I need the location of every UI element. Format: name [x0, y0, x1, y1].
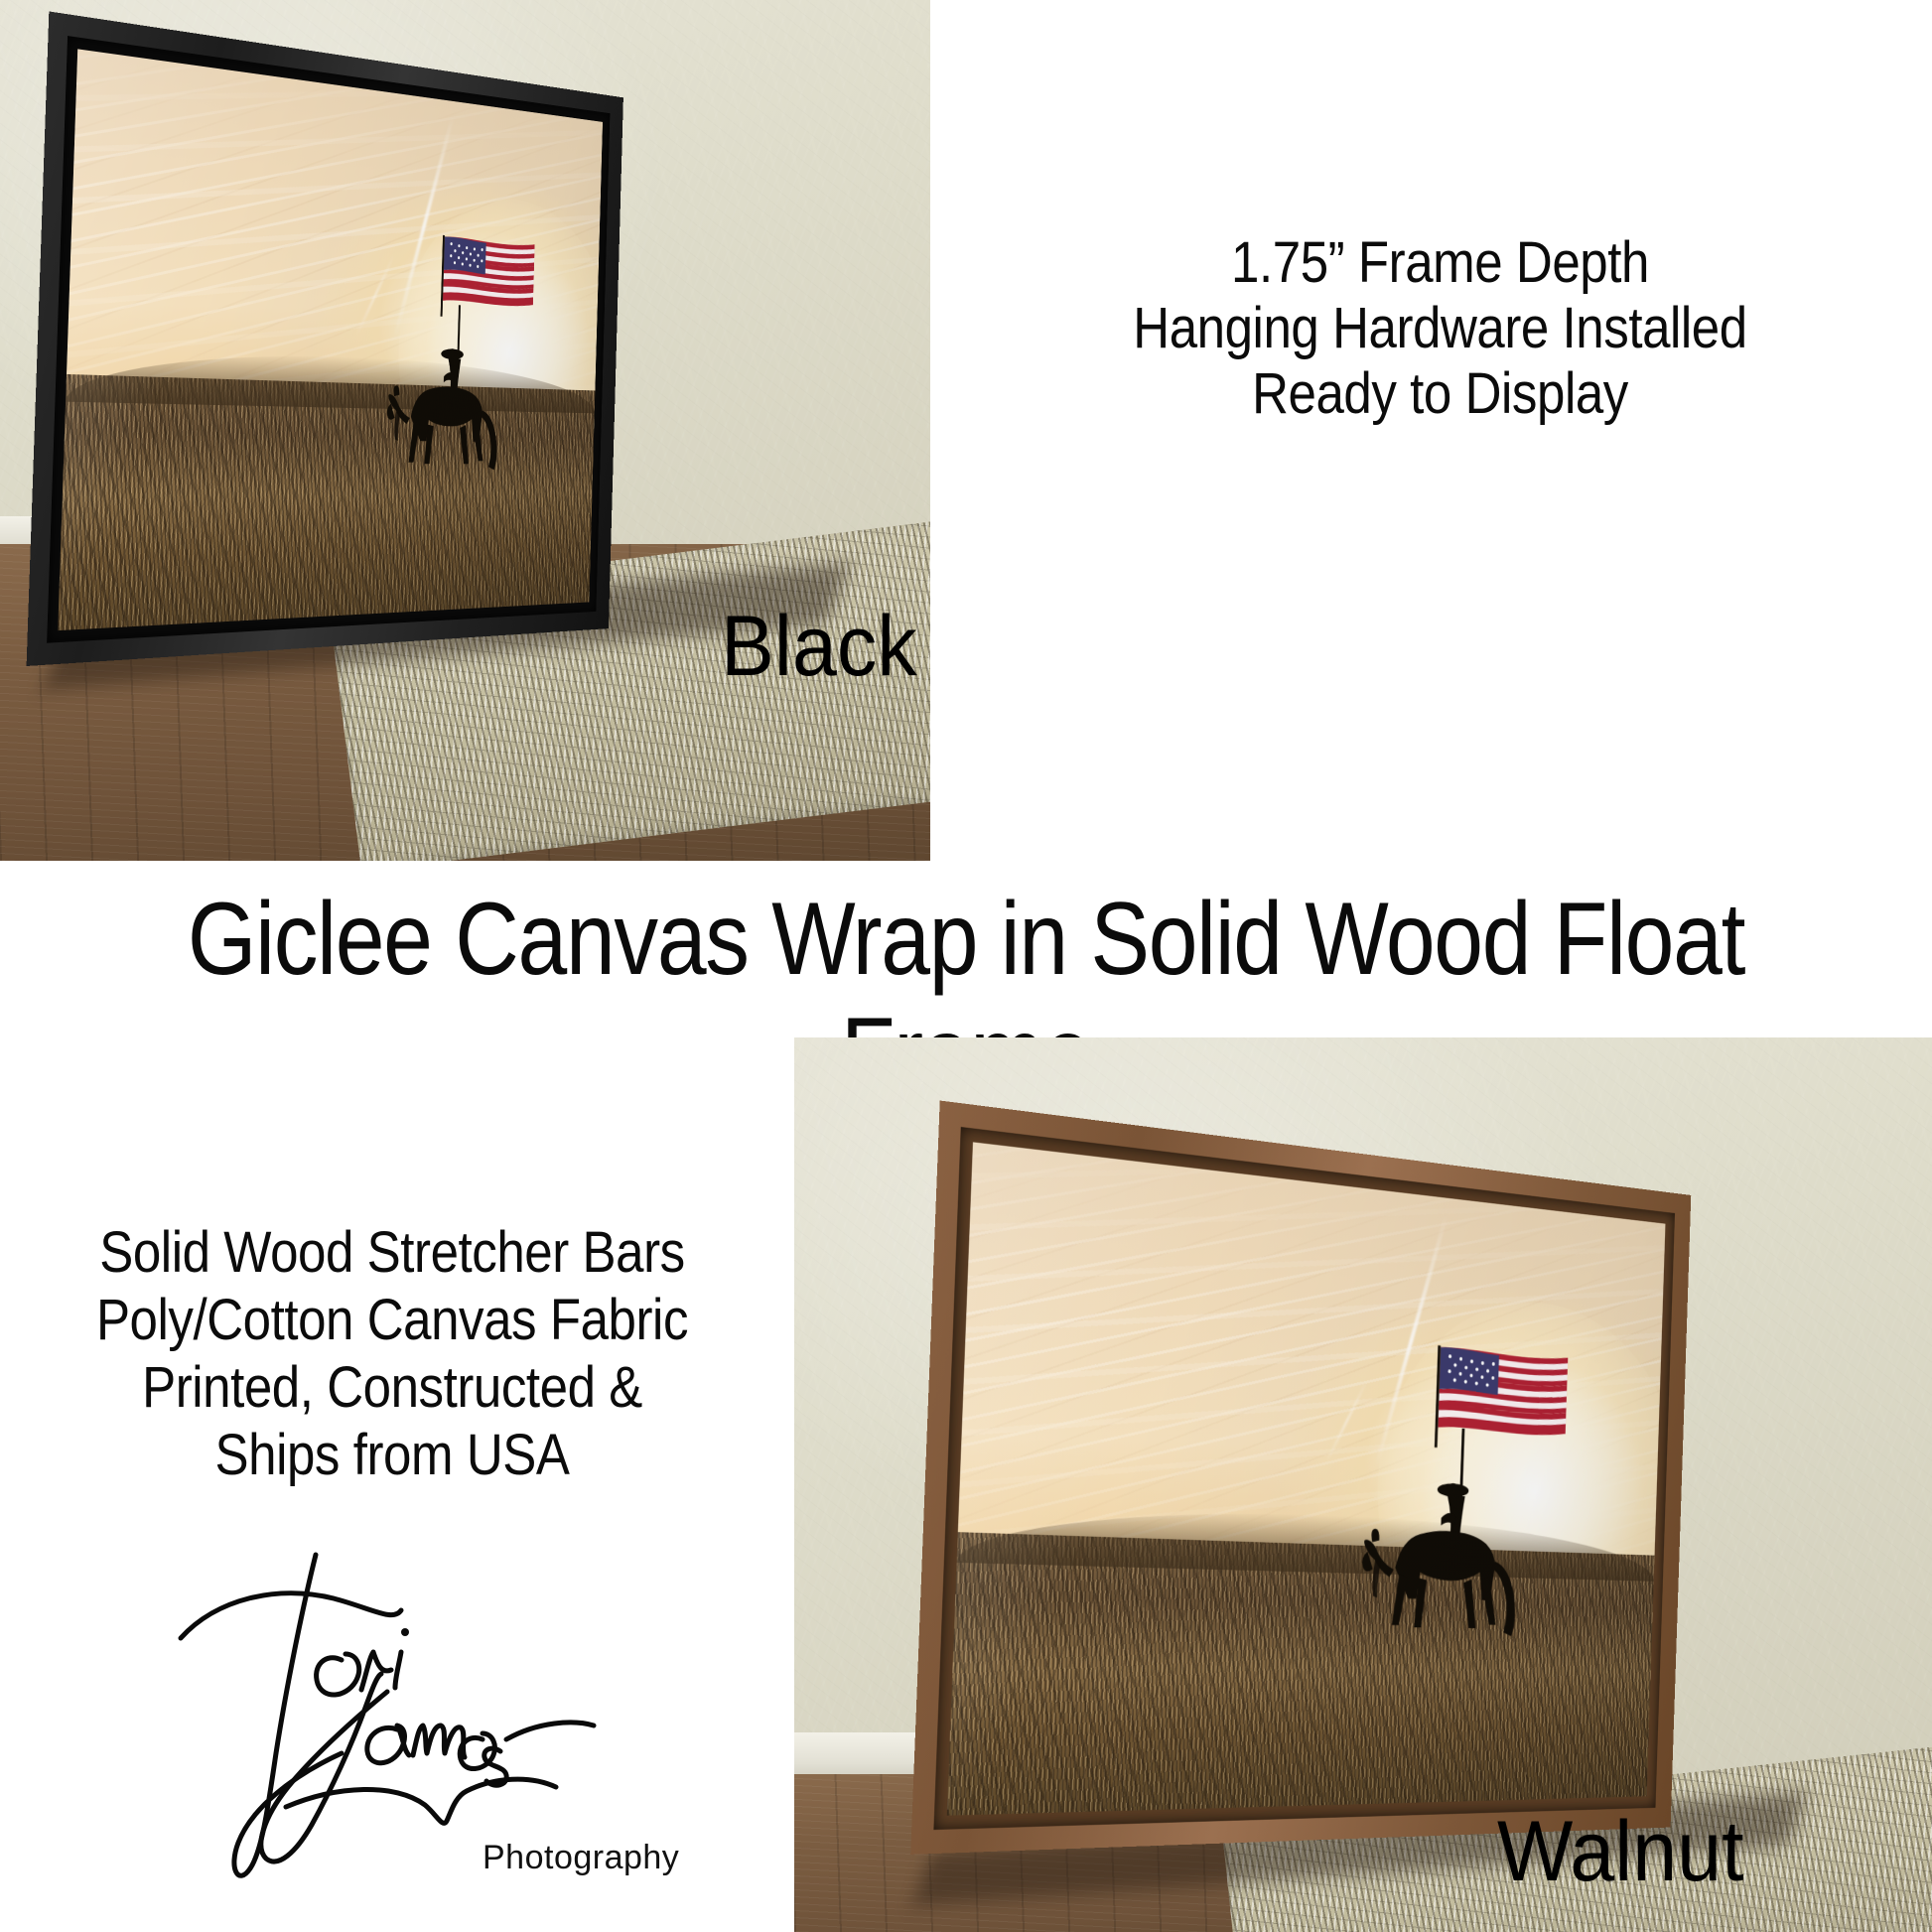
- material-line-canvas-fabric: Poly/Cotton Canvas Fabric: [56, 1287, 729, 1354]
- brand-logo: Photography: [167, 1541, 663, 1906]
- spec-line-ready-to-display: Ready to Display: [1007, 361, 1872, 427]
- canvas-artwork-walnut: [947, 1142, 1666, 1815]
- canvas-artwork-black: [58, 49, 603, 630]
- material-line-stretcher-bars: Solid Wood Stretcher Bars: [56, 1219, 729, 1287]
- frame-color-label-walnut: Walnut: [1497, 1809, 1744, 1894]
- float-frame-black: [27, 11, 623, 666]
- logo-subtitle: Photography: [483, 1839, 679, 1877]
- material-line-ships-from-usa: Ships from USA: [56, 1422, 729, 1489]
- product-photo-black-frame: Black: [0, 0, 930, 861]
- cowboy-on-horseback-silhouette: [379, 300, 511, 478]
- frame-color-label-black: Black: [721, 604, 917, 689]
- product-photo-walnut-frame: [794, 1037, 1932, 1932]
- spec-line-frame-depth: 1.75” Frame Depth: [1007, 230, 1872, 296]
- sagebrush-ground: [58, 373, 595, 630]
- specs-text-block: 1.75” Frame Depth Hanging Hardware Insta…: [948, 230, 1932, 427]
- float-frame-walnut: [910, 1101, 1691, 1855]
- material-line-printed-constructed: Printed, Constructed &: [56, 1354, 729, 1422]
- sagebrush-ground: [947, 1532, 1655, 1816]
- materials-text-block: Solid Wood Stretcher Bars Poly/Cotton Ca…: [10, 1219, 774, 1489]
- cowboy-on-horseback-silhouette: [1351, 1422, 1536, 1645]
- product-infographic: Black 1.75” Frame Depth Hanging Hardware…: [0, 0, 1932, 1932]
- spec-line-hanging-hardware: Hanging Hardware Installed: [1007, 296, 1872, 361]
